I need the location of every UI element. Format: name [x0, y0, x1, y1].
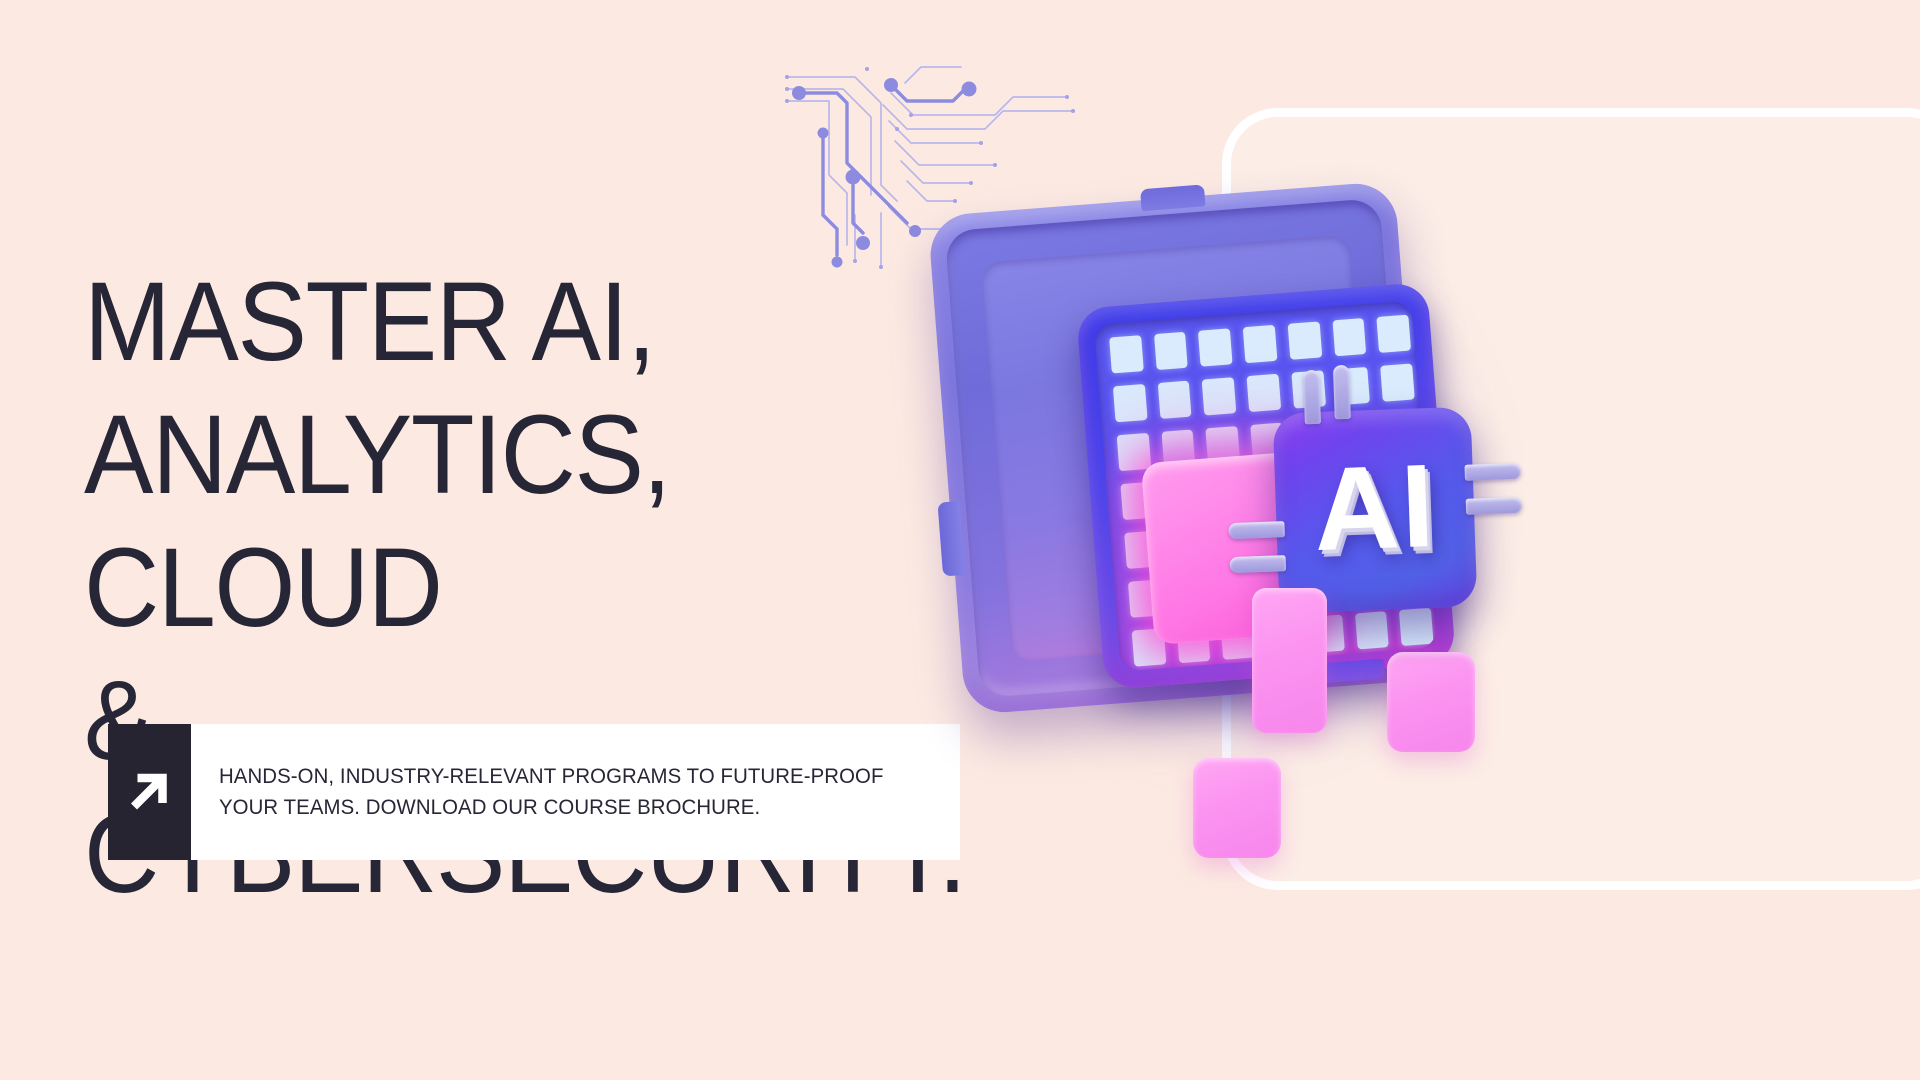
- chip-pin: [1117, 433, 1151, 471]
- badge-leg-right: [1466, 497, 1523, 515]
- chip-pin: [1377, 315, 1411, 353]
- badge-leg-left: [1228, 521, 1285, 539]
- chip-pin: [1109, 335, 1143, 373]
- badge-leg-top: [1303, 370, 1321, 425]
- hero-illustration: AI: [940, 0, 1920, 1080]
- floating-tile: [1252, 588, 1327, 733]
- cta-text-box[interactable]: HANDS-ON, INDUSTRY-RELEVANT PROGRAMS TO …: [191, 724, 960, 860]
- ai-badge: AI: [1273, 407, 1478, 614]
- floating-tile: [1387, 652, 1475, 752]
- cta-banner[interactable]: HANDS-ON, INDUSTRY-RELEVANT PROGRAMS TO …: [108, 724, 960, 860]
- chip-illustration: AI: [940, 120, 1920, 940]
- chip-pin: [1380, 363, 1414, 401]
- chip-pin: [1154, 332, 1188, 370]
- chip-pin: [1202, 377, 1236, 415]
- cta-description: HANDS-ON, INDUSTRY-RELEVANT PROGRAMS TO …: [219, 761, 916, 823]
- floating-tile: [1193, 758, 1281, 858]
- hero-banner: MASTER AI, ANALYTICS, CLOUD & CYBERSECUR…: [0, 0, 1920, 1080]
- chip-pin: [1198, 328, 1232, 366]
- plate-tab-top: [1140, 184, 1205, 211]
- arrow-up-right-icon: [123, 765, 177, 819]
- plate-tab-left: [937, 501, 965, 576]
- chip-pin: [1113, 384, 1147, 422]
- chip-pin: [1287, 321, 1321, 359]
- badge-leg-right: [1464, 463, 1521, 481]
- chip-pin: [1399, 608, 1433, 646]
- chip-pin: [1157, 381, 1191, 419]
- chip-pin: [1355, 611, 1389, 649]
- chip-pin: [1332, 318, 1366, 356]
- chip-pin: [1247, 374, 1281, 412]
- badge-leg-top: [1333, 365, 1351, 420]
- chip-pin: [1243, 325, 1277, 363]
- cta-icon-box[interactable]: [108, 724, 191, 860]
- badge-leg-left: [1230, 555, 1287, 573]
- ai-badge-label: AI: [1312, 447, 1438, 569]
